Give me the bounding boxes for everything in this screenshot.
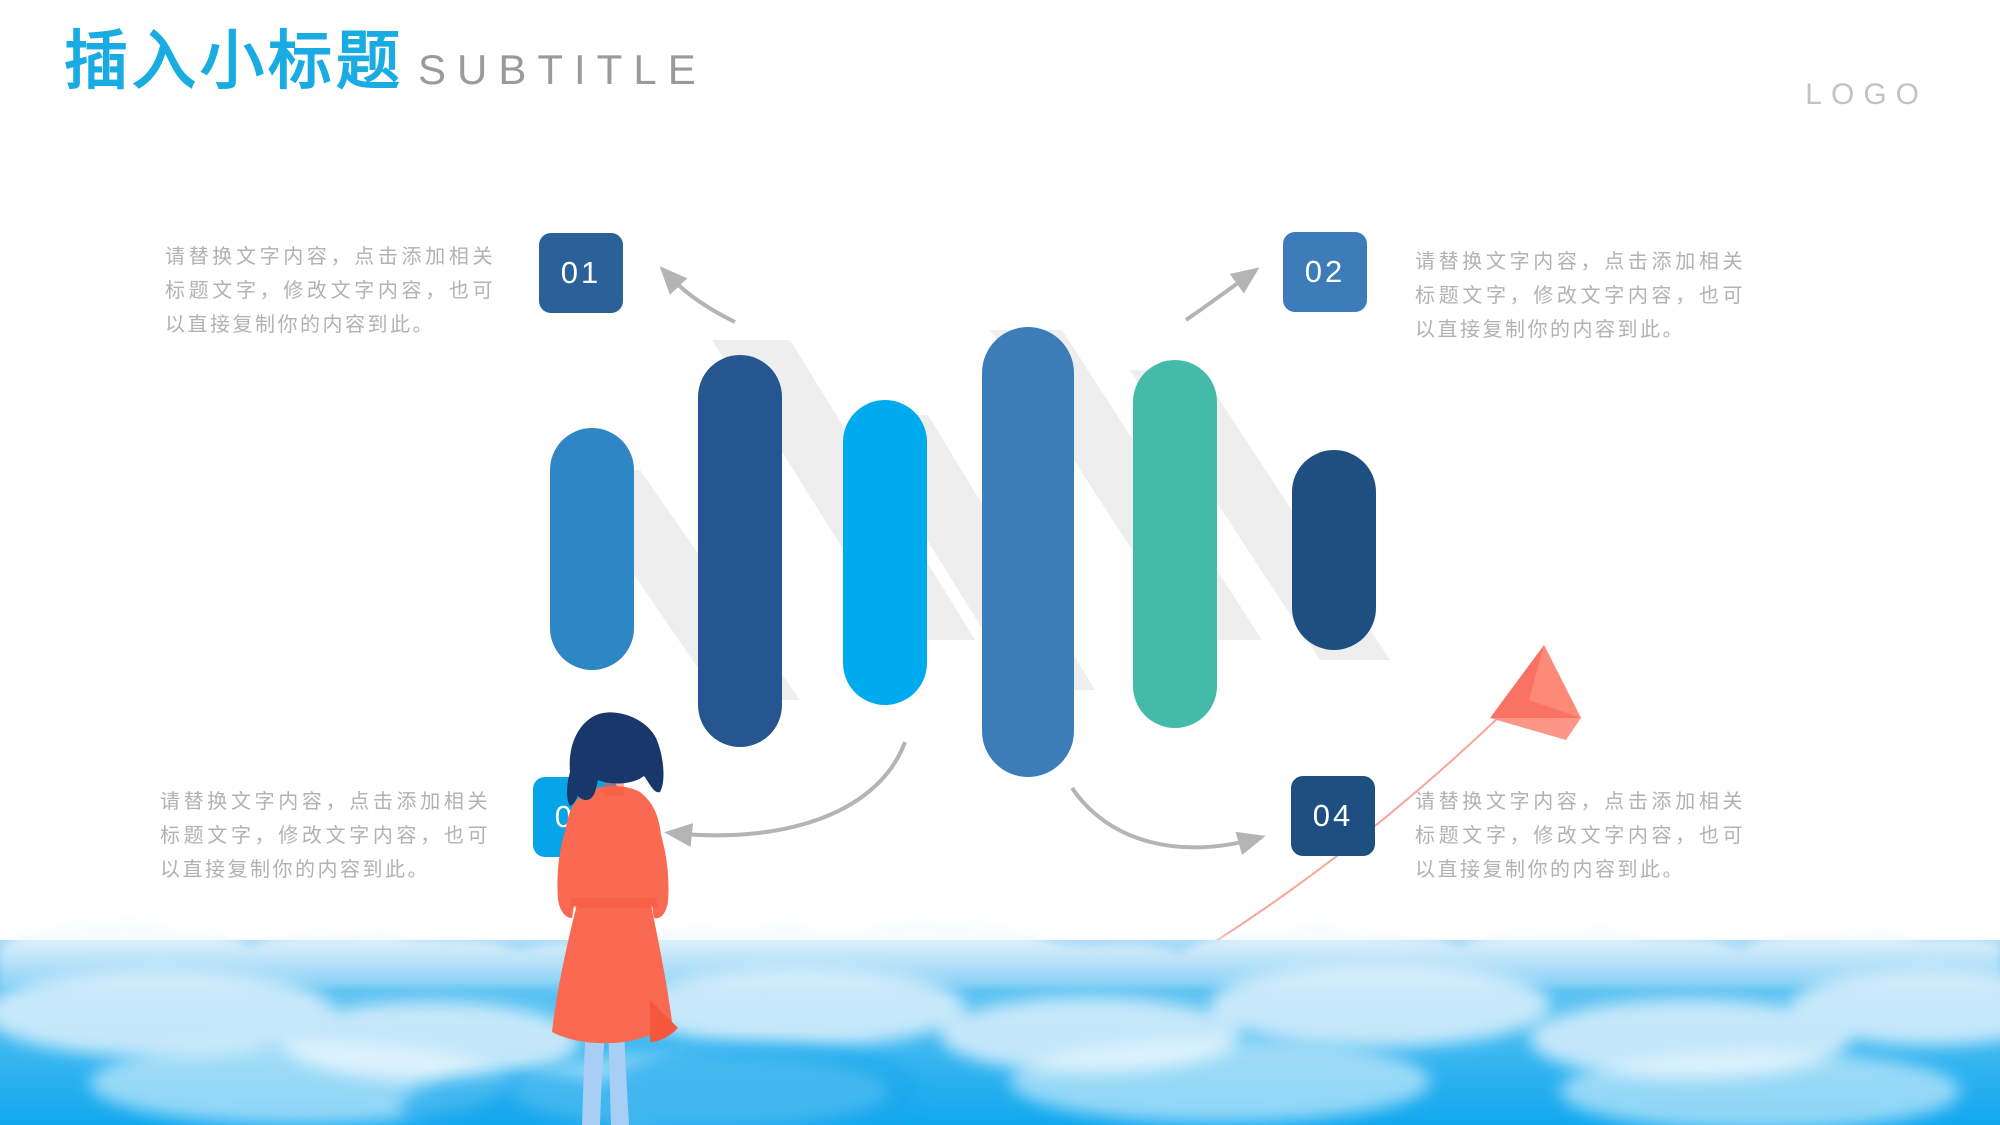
woman-figure: [0, 0, 2000, 1125]
slide: 插入小标题 SUBTITLE LOGO: [0, 0, 2000, 1125]
figure-waist: [570, 898, 658, 908]
figure-dress: [552, 786, 678, 1043]
